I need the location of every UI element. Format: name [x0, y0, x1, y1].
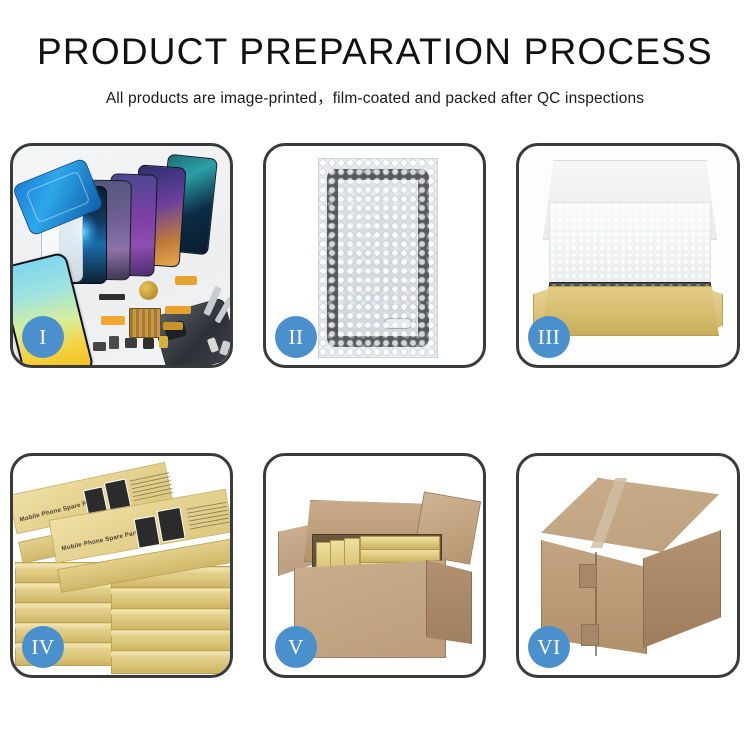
step-badge-5: V [275, 626, 317, 668]
process-step-grid: I II [10, 143, 740, 688]
part-flex-cable-2 [165, 306, 191, 314]
home-button [384, 318, 412, 329]
part-small-1 [109, 336, 119, 349]
process-step-card-1[interactable]: I [10, 143, 233, 368]
process-step-card-6[interactable]: VI [516, 453, 740, 678]
process-step-card-5[interactable]: V [263, 453, 486, 678]
process-step-card-3[interactable]: III [516, 143, 740, 368]
step-badge-2: II [275, 316, 317, 358]
foam-padding [549, 202, 711, 292]
part-small-2 [125, 338, 137, 348]
stacked-box-r1 [111, 652, 230, 674]
carton-tab-upper [579, 564, 597, 588]
process-step-card-2[interactable]: II [263, 143, 486, 368]
wrapped-phone-screen [327, 169, 429, 347]
part-strip [99, 294, 125, 300]
process-step-card-4[interactable]: Mobile Phone Spare Parts Mobile Phone Sp… [10, 453, 233, 678]
page-subtitle: All products are image-printed，film-coat… [0, 86, 750, 108]
part-small-4 [159, 336, 168, 348]
page-title: PRODUCT PREPARATION PROCESS [0, 32, 750, 73]
part-flex-cable-3 [175, 276, 197, 285]
page-header: PRODUCT PREPARATION PROCESS All products… [0, 0, 750, 108]
stacked-box-l3 [15, 604, 117, 624]
stacked-box-r3 [111, 610, 230, 631]
carton-side-face [426, 560, 472, 644]
product-preparation-page: PRODUCT PREPARATION PROCESS All products… [0, 0, 750, 750]
step-badge-4: IV [22, 626, 64, 668]
carton-tab-lower [581, 624, 599, 646]
part-flex-cable-4 [163, 322, 183, 330]
stacked-box-r2 [111, 631, 230, 652]
step-badge-3: III [528, 316, 570, 358]
step-badge-1: I [22, 316, 64, 358]
part-flex-cable-1 [101, 316, 125, 325]
bubble-wrap-sheet [318, 158, 438, 358]
part-coil [139, 281, 158, 300]
part-small-5 [93, 342, 106, 351]
part-small-3 [143, 338, 154, 349]
part-chip-grid [129, 308, 161, 338]
earpiece-slot [386, 186, 410, 190]
stacked-box-r4 [111, 589, 230, 610]
step-badge-6: VI [528, 626, 570, 668]
